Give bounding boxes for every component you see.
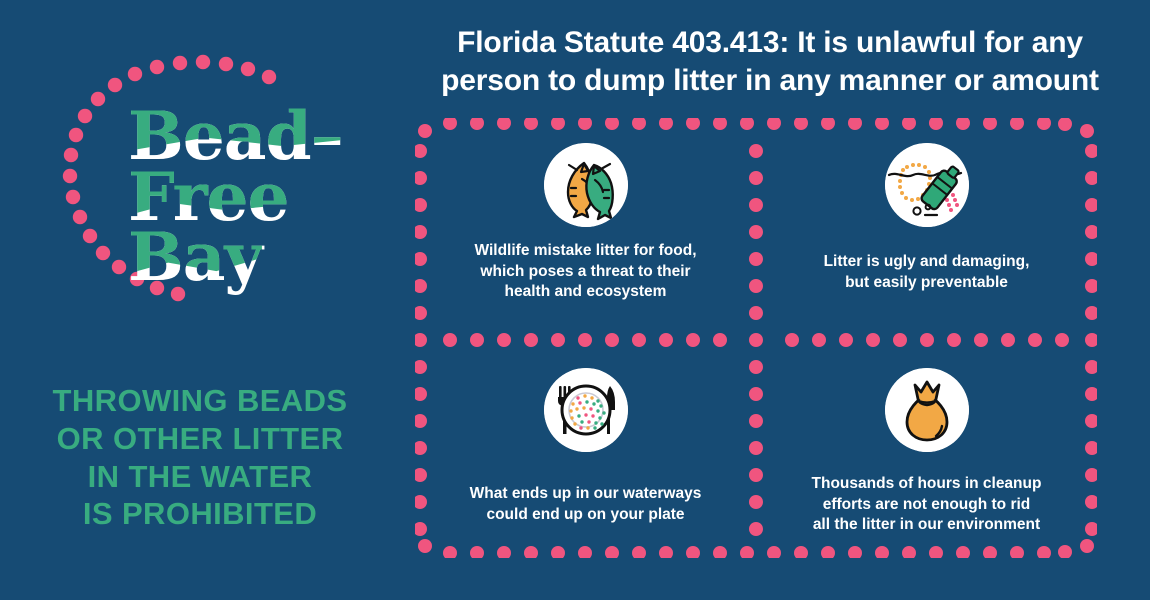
two-fish-icon: [544, 143, 628, 227]
statute-headline-line-2: person to dump litter in any manner or a…: [415, 62, 1125, 100]
left-panel: Bead– Bead– Free Free Bay Bay THROWING B…: [0, 0, 400, 600]
slogan-line-2: OR OTHER LITTER: [20, 420, 380, 458]
slogan: THROWING BEADS OR OTHER LITTER IN THE WA…: [20, 382, 380, 533]
slogan-line-1: THROWING BEADS: [20, 382, 380, 420]
caption-line: which poses a threat to their: [436, 262, 736, 283]
caption-line: Wildlife mistake litter for food,: [436, 241, 736, 262]
fact-caption-cleanup-hours: Thousands of hours in cleanup efforts ar…: [777, 474, 1077, 536]
caption-line: but easily preventable: [777, 273, 1077, 294]
caption-line: health and ecosystem: [436, 282, 736, 303]
plate-with-beads-icon: [544, 368, 628, 452]
slogan-line-4: IS PROHIBITED: [20, 495, 380, 533]
statute-headline-line-1: Florida Statute 403.413: It is unlawful …: [415, 24, 1125, 62]
trash-bag-icon: [885, 368, 969, 452]
statute-headline: Florida Statute 403.413: It is unlawful …: [415, 24, 1125, 101]
caption-line: Thousands of hours in cleanup: [777, 474, 1077, 495]
caption-line: Litter is ugly and damaging,: [777, 252, 1077, 273]
bottle-in-water-icon: [885, 143, 969, 227]
fact-cell-wildlife: Wildlife mistake litter for food, which …: [415, 118, 756, 338]
fact-cell-litter-ugly: Litter is ugly and damaging, but easily …: [756, 118, 1097, 338]
caption-line: What ends up in our waterways: [436, 484, 736, 505]
slogan-line-3: IN THE WATER: [20, 458, 380, 496]
fact-caption-litter-ugly: Litter is ugly and damaging, but easily …: [777, 252, 1077, 293]
caption-line: efforts are not enough to rid: [777, 495, 1077, 516]
caption-line: could end up on your plate: [436, 505, 736, 526]
logo: Bead– Bead– Free Free Bay Bay: [40, 48, 370, 338]
logo-wordmark: Bead– Bead– Free Free Bay Bay: [128, 106, 378, 288]
facts-grid: Wildlife mistake litter for food, which …: [415, 118, 1097, 558]
fact-caption-wildlife: Wildlife mistake litter for food, which …: [436, 241, 736, 303]
caption-line: all the litter in our environment: [777, 515, 1077, 536]
fact-caption-waterways-plate: What ends up in our waterways could end …: [436, 484, 736, 525]
infographic-poster: Bead– Bead– Free Free Bay Bay THROWING B…: [0, 0, 1150, 600]
logo-line-3: Bay Bay: [128, 227, 378, 288]
fact-cell-cleanup-hours: Thousands of hours in cleanup efforts ar…: [756, 338, 1097, 558]
fact-cell-waterways-plate: What ends up in our waterways could end …: [415, 338, 756, 558]
